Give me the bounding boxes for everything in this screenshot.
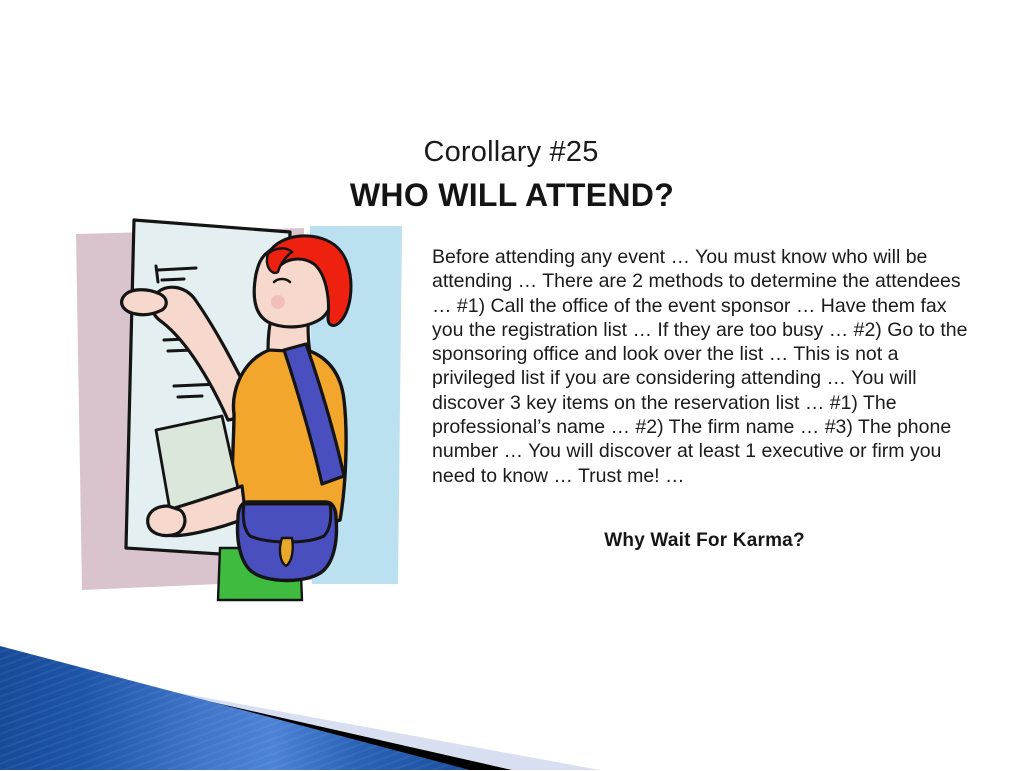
- cheek-blush: [271, 295, 285, 309]
- blue-band-texture: [0, 646, 470, 770]
- corollary-label-text: Corollary #25: [423, 136, 598, 169]
- pointing-hand: [122, 290, 167, 315]
- bag-flap: [243, 504, 331, 542]
- bag-clasp: [280, 538, 293, 566]
- tagline: Why Wait For Karma?: [432, 530, 977, 552]
- body-paragraph: Before attending any event … You must kn…: [432, 245, 977, 488]
- page-title: WHO WILL ATTEND?: [0, 177, 1024, 214]
- holding-hand: [148, 506, 185, 536]
- corollary-label: Corollary #25: [0, 136, 1023, 169]
- illustration-woman-reading-list: [72, 218, 432, 608]
- slide-canvas: Corollary #25 WHO WILL ATTEND? Before at…: [0, 0, 1024, 771]
- corner-decoration: [0, 636, 1024, 771]
